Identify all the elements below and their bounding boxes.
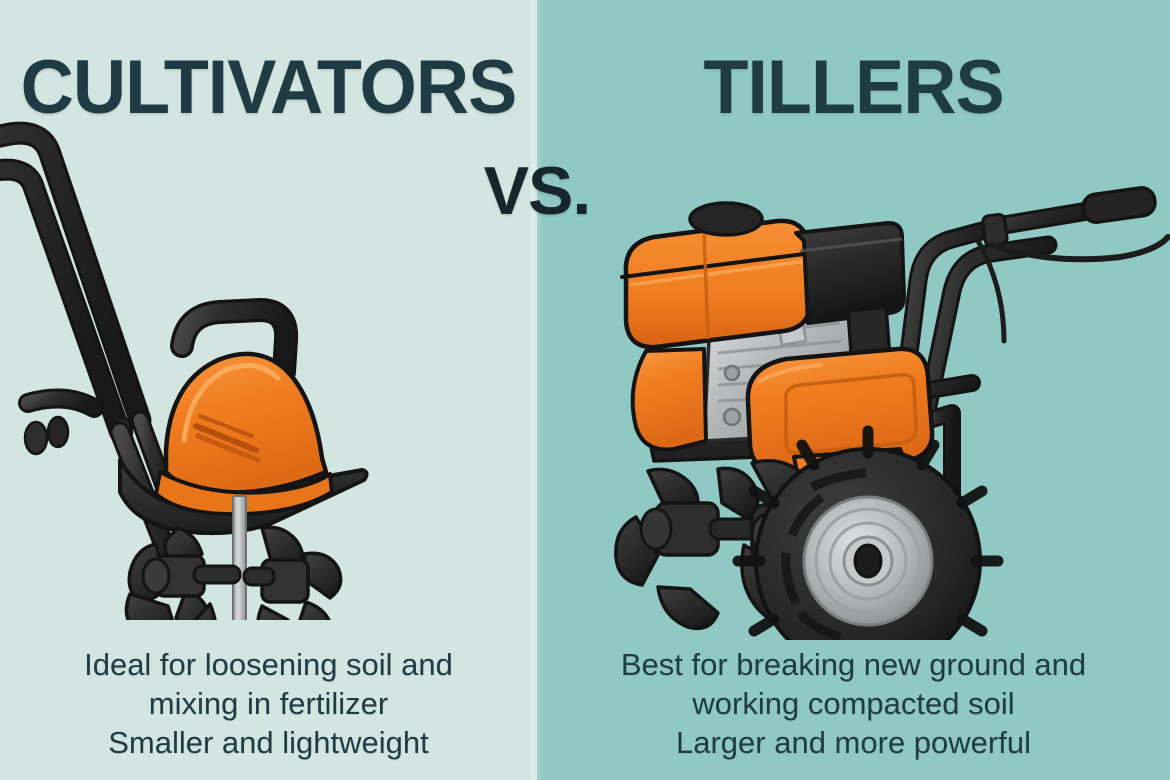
left-panel-caption: Ideal for loosening soil and mixing in f… <box>0 645 537 762</box>
caption-line: Best for breaking new ground and <box>537 645 1170 684</box>
right-panel-caption: Best for breaking new ground and working… <box>537 645 1170 762</box>
caption-line: mixing in fertilizer <box>0 684 537 723</box>
left-panel-title: CULTIVATORS <box>8 44 529 131</box>
caption-line: Ideal for loosening soil and <box>0 645 537 684</box>
comparison-infographic: CULTIVATORS TILLERS VS. <box>0 0 1170 780</box>
caption-line: Smaller and lightweight <box>0 723 537 762</box>
right-panel-title: TILLERS <box>546 44 1160 131</box>
versus-label: VS. <box>437 152 637 230</box>
caption-line: Larger and more powerful <box>537 723 1170 762</box>
caption-line: working compacted soil <box>537 684 1170 723</box>
